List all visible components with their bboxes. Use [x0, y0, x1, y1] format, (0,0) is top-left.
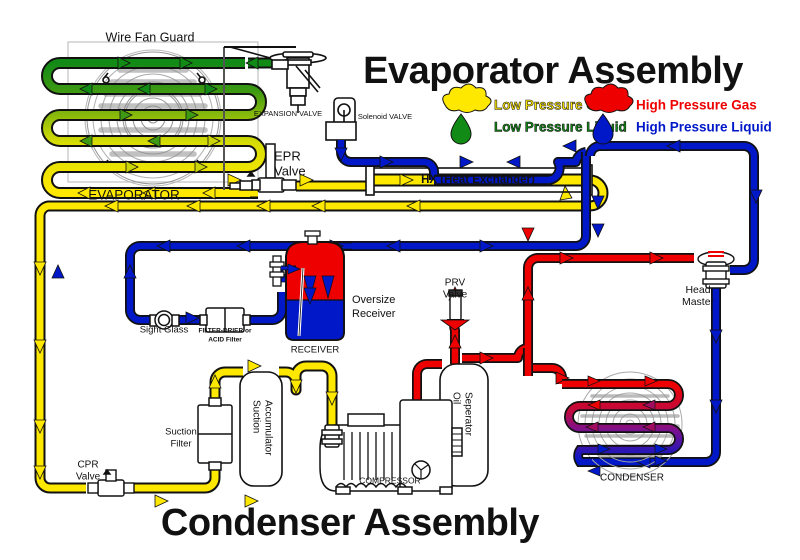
label-oil-separator-line1: Oil [450, 392, 461, 404]
label-head-master-line1: Head [685, 284, 710, 296]
label-oil-separator-line2: Seperator [462, 392, 473, 437]
title-condenser-assembly: Condenser Assembly [161, 502, 540, 544]
label-oversize-line1: Oversize [352, 294, 395, 306]
suction-filter-icon [198, 398, 232, 470]
label-compressor: COMPRESSOR [359, 475, 420, 485]
label-epr-valve-line1: EPR [274, 148, 301, 163]
head-master-valve-icon [698, 252, 734, 288]
label-suction-accumulator-line2: Accumulator [262, 400, 273, 456]
legend-label-1: High Pressure Gas [636, 98, 757, 113]
label-sight-glass: Sight Glass [140, 325, 189, 336]
label-suction-filter-line1: Suction [165, 427, 197, 438]
label-cpr-valve-line2: Valve [76, 472, 101, 483]
title-evaporator-assembly: Evaporator Assembly [363, 50, 743, 92]
label-cpr-valve-line1: CPR [77, 460, 98, 471]
label-wire-fan-guard: Wire Fan Guard [106, 30, 195, 44]
label-suction-accumulator-line1: Suction [250, 400, 261, 433]
label-heat-exchanger: HX (Heat Exchanger) [421, 174, 535, 186]
label-solenoid-valve: Solenoid VALVE [358, 112, 412, 121]
label-prv-valve-line1: PRV [445, 278, 466, 289]
label-epr-valve-line2: Valve [274, 163, 306, 178]
label-expansion-valve: EXPANSION VALVE [254, 109, 322, 118]
label-suction-filter-line2: Filter [170, 439, 191, 450]
label-evaporator: EVAPORATOR [88, 188, 180, 203]
label-filter-drier-line1: FILTER-DRIER or [199, 328, 252, 335]
label-prv-valve-line2: Valve [443, 290, 468, 301]
label-head-master-line2: Master [682, 296, 715, 308]
label-oversize-line2: Receiver [352, 308, 396, 320]
label-receiver: RECEIVER [291, 345, 340, 356]
refrigeration-system-diagram: Wire Fan Guard EVAPORATOR EXPANSION VALV… [0, 0, 800, 560]
label-filter-drier-line2: ACID Filter [208, 337, 242, 344]
label-condenser: CONDENSER [600, 473, 664, 484]
legend-label-3: High Pressure Liquid [636, 120, 772, 135]
